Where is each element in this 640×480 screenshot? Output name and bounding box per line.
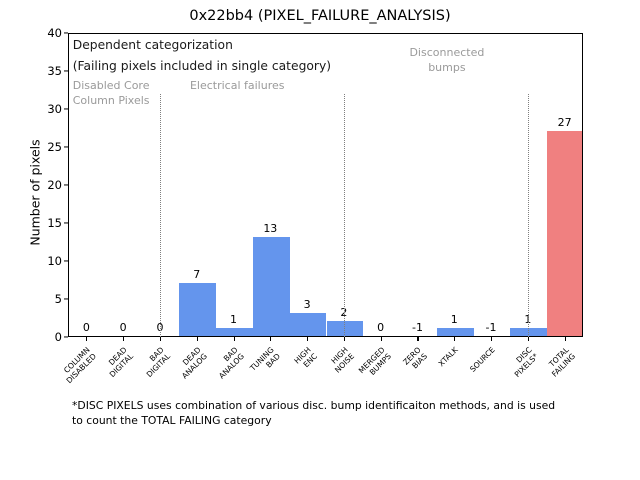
x-tick-mark [270, 337, 271, 341]
y-tick-label: 0 [26, 330, 62, 344]
y-tick-label: 25 [26, 140, 62, 154]
chart-title: 0x22bb4 (PIXEL_FAILURE_ANALYSIS) [0, 8, 640, 24]
y-tick-label: 20 [26, 178, 62, 192]
x-tick-mark [417, 337, 418, 341]
bar[interactable] [216, 328, 253, 336]
chart-annotation: Electrical failures [190, 79, 285, 94]
chart-footnote: *DISC PIXELS uses combination of various… [72, 398, 572, 429]
y-tick-mark [64, 146, 68, 147]
bar-value-label: 1 [230, 313, 237, 326]
x-tick-mark [234, 337, 235, 341]
chart-annotation: Disconnected bumps [409, 46, 484, 75]
x-tick-mark [197, 337, 198, 341]
y-tick-label: 35 [26, 64, 62, 78]
bar-value-label: 0 [377, 321, 384, 334]
x-tick-mark [381, 337, 382, 341]
chart-annotation: Disabled Core Column Pixels [73, 79, 150, 108]
bar-value-label: 13 [263, 222, 277, 235]
y-tick-mark [64, 336, 68, 337]
bar[interactable] [510, 328, 547, 336]
bar[interactable] [253, 237, 290, 336]
bar[interactable] [290, 313, 327, 336]
x-tick-mark [123, 337, 124, 341]
bar-value-label: -1 [486, 321, 497, 334]
y-tick-label: 30 [26, 102, 62, 116]
bar-value-label: 3 [304, 298, 311, 311]
x-tick-mark [565, 337, 566, 341]
bar-value-label: 1 [451, 313, 458, 326]
y-tick-mark [64, 108, 68, 109]
x-tick-mark [528, 337, 529, 341]
chart-annotation: (Failing pixels included in single categ… [73, 58, 331, 74]
y-tick-mark [64, 70, 68, 71]
chart-figure: 0x22bb4 (PIXEL_FAILURE_ANALYSIS) Number … [0, 0, 640, 480]
category-divider-line [528, 94, 529, 337]
bar[interactable] [547, 131, 582, 336]
bar[interactable] [437, 328, 474, 336]
bar-value-label: 0 [83, 321, 90, 334]
bar[interactable] [327, 321, 364, 336]
y-tick-label: 10 [26, 254, 62, 268]
y-tick-label: 5 [26, 292, 62, 306]
y-tick-mark [64, 298, 68, 299]
category-divider-line [160, 94, 161, 337]
x-tick-mark [454, 337, 455, 341]
y-tick-mark [64, 222, 68, 223]
y-tick-label: 40 [26, 26, 62, 40]
x-tick-mark [160, 337, 161, 341]
x-tick-mark [307, 337, 308, 341]
y-tick-mark [64, 184, 68, 185]
y-tick-label: 15 [26, 216, 62, 230]
bar-value-label: 7 [193, 268, 200, 281]
bar[interactable] [179, 283, 216, 336]
y-tick-mark [64, 32, 68, 33]
category-divider-line [344, 94, 345, 337]
bar-value-label: -1 [412, 321, 423, 334]
y-tick-mark [64, 260, 68, 261]
x-tick-mark [86, 337, 87, 341]
bar-value-label: 27 [558, 116, 572, 129]
x-tick-mark [344, 337, 345, 341]
bar-value-label: 0 [120, 321, 127, 334]
x-tick-mark [491, 337, 492, 341]
chart-annotation: Dependent categorization [73, 37, 233, 53]
